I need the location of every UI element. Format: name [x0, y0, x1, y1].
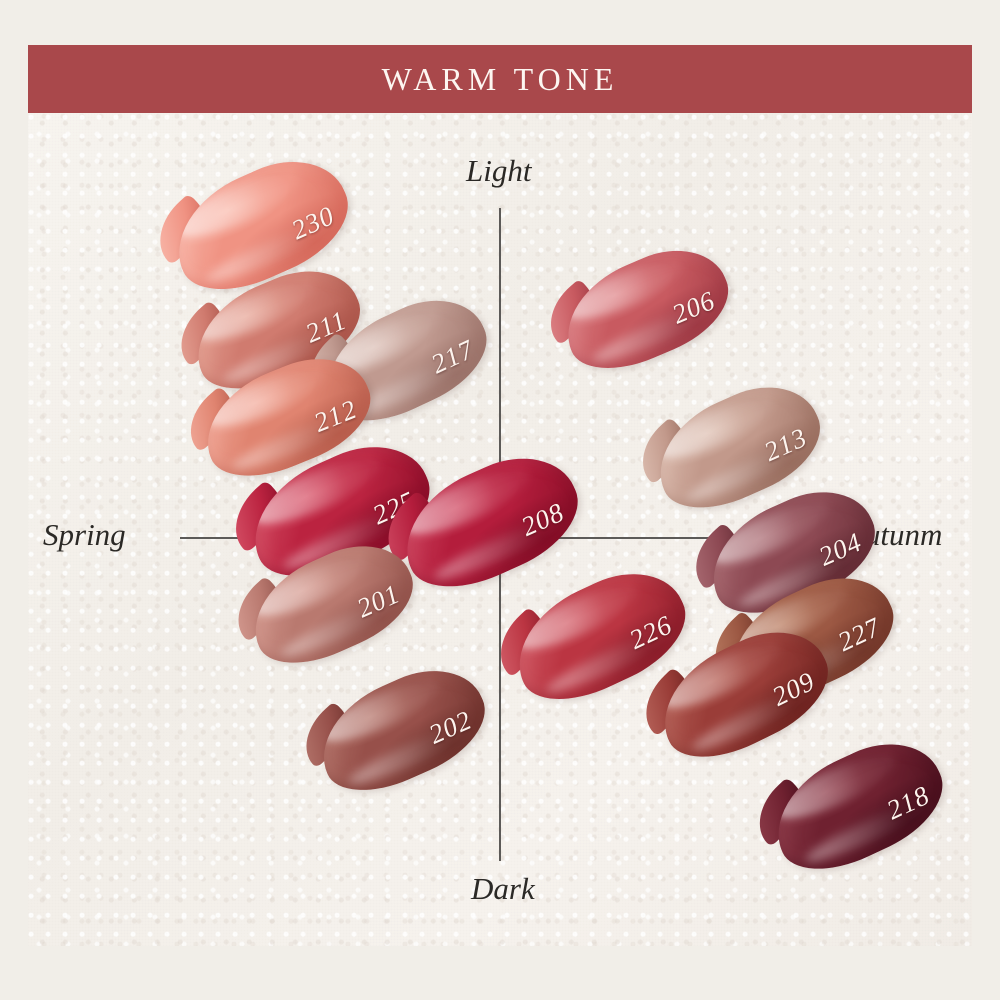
swatch-shape — [304, 651, 500, 809]
axis-label-light: Light — [466, 153, 531, 189]
axis-label-dark: Dark — [471, 871, 535, 907]
swatch-shape — [757, 723, 959, 888]
axis-label-spring: Spring — [43, 517, 126, 553]
header-banner: WARM TONE — [28, 45, 972, 113]
swatch-218[interactable]: 218 — [757, 723, 959, 888]
swatch-206[interactable]: 206 — [549, 232, 743, 387]
swatch-shape — [549, 232, 743, 387]
page-title: WARM TONE — [382, 61, 619, 98]
poster-root: WARM TONE Light Dark Spring Autunm 23021… — [0, 0, 1000, 1000]
swatch-202[interactable]: 202 — [304, 651, 500, 809]
color-chart-canvas: Light Dark Spring Autunm 230211217212206… — [28, 113, 972, 946]
